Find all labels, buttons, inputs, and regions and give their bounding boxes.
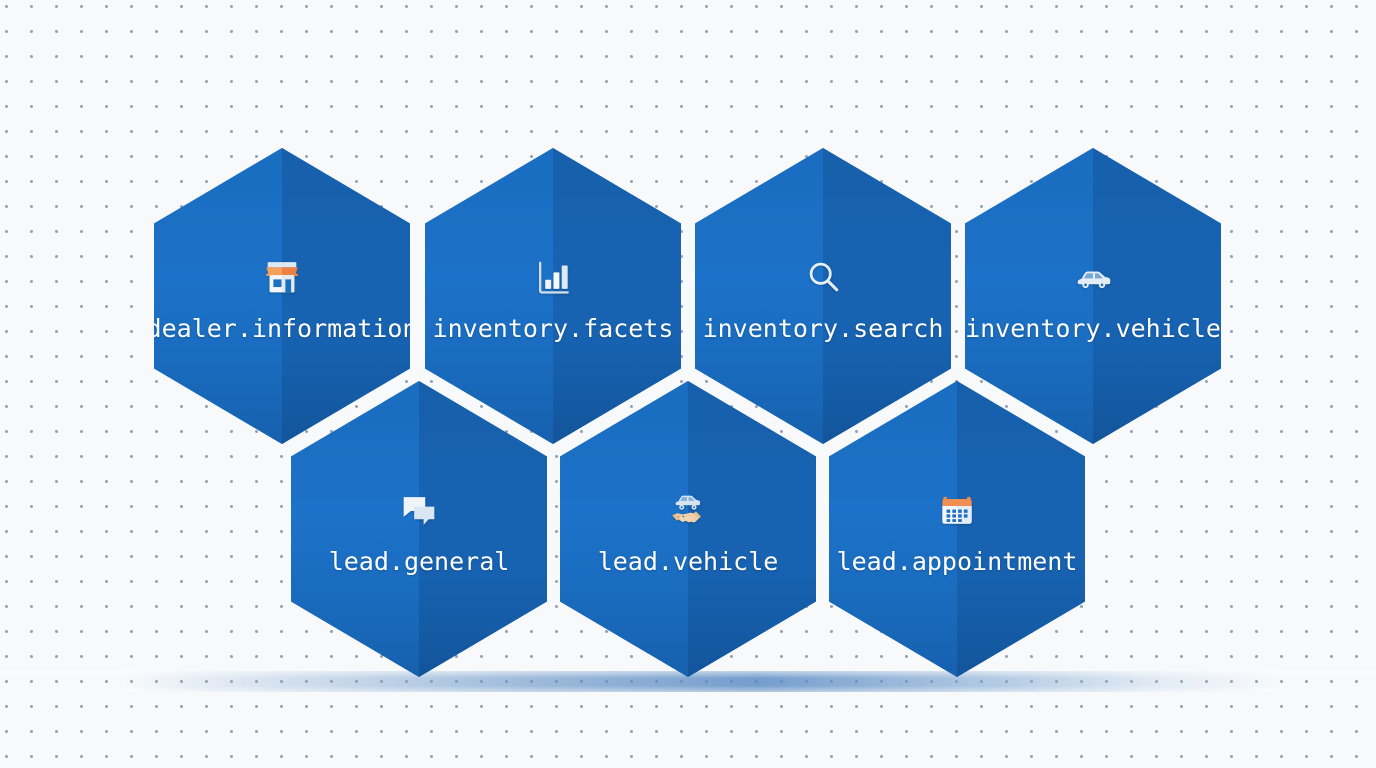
- hex-label: inventory.search: [703, 316, 944, 341]
- bar-chart-icon: [530, 254, 576, 300]
- chat-bubbles-icon: [396, 487, 442, 533]
- hex-label: lead.vehicle: [598, 549, 779, 574]
- hex-node-inventory-facets[interactable]: inventory.facets: [425, 148, 681, 444]
- car-icon: [1070, 254, 1116, 300]
- hex-node-dealer-information[interactable]: dealer.information: [154, 148, 410, 444]
- hex-label: dealer.information: [147, 316, 418, 341]
- hex-node-inventory-vehicle[interactable]: inventory.vehicle: [965, 148, 1221, 444]
- hex-node-lead-general[interactable]: lead.general: [291, 381, 547, 677]
- hex-node-lead-appointment[interactable]: lead.appointment: [829, 381, 1085, 677]
- hex-label: lead.appointment: [837, 549, 1078, 574]
- hexagon-grid: dealer.information inventory.facets: [0, 0, 1376, 768]
- car-handshake-icon: [665, 487, 711, 533]
- hex-node-lead-vehicle[interactable]: lead.vehicle: [560, 381, 816, 677]
- hex-label: inventory.vehicle: [965, 316, 1221, 341]
- hex-label: inventory.facets: [433, 316, 674, 341]
- storefront-icon: [259, 254, 305, 300]
- calendar-icon: [934, 487, 980, 533]
- search-icon: [800, 254, 846, 300]
- diagram-canvas: dealer.information inventory.facets: [0, 0, 1376, 768]
- hex-label: lead.general: [329, 549, 510, 574]
- hex-node-inventory-search[interactable]: inventory.search: [695, 148, 951, 444]
